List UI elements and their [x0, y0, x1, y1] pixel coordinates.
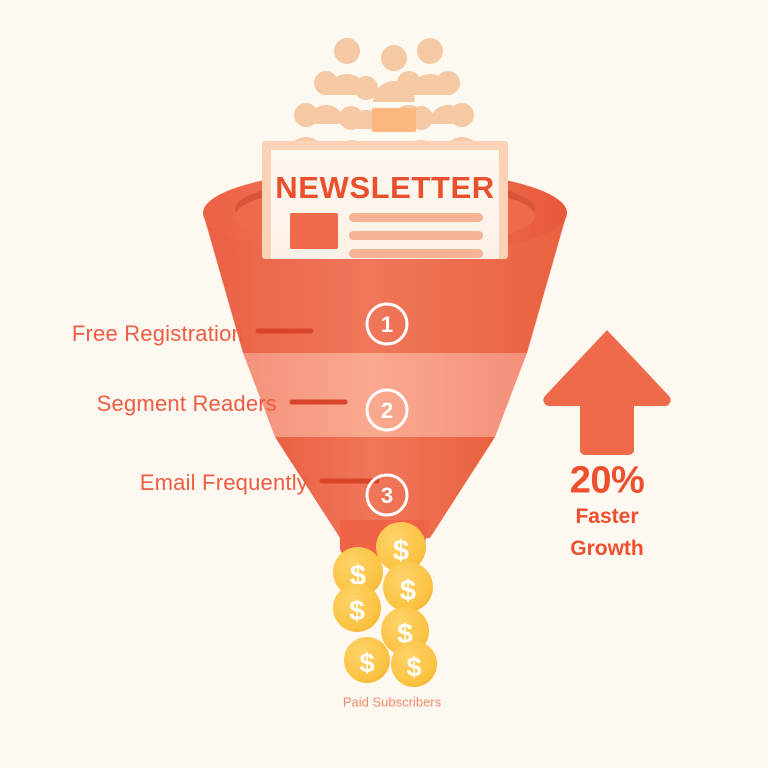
coin-symbol: $ [349, 595, 365, 626]
step-label-email-frequently: Email Frequently [140, 470, 308, 496]
step-badge-1-number: 1 [381, 312, 393, 337]
funnel-band-2 [243, 353, 527, 437]
funnel-infographic-illustration: 1 2 3 $ $ $ $ [0, 0, 768, 768]
step-label-segment-readers: Segment Readers [97, 391, 277, 417]
coin-symbol: $ [400, 575, 416, 607]
newsletter-title: NEWSLETTER [275, 170, 495, 206]
people-group-icon [287, 38, 481, 159]
step-badge-2-number: 2 [381, 398, 393, 423]
envelope-icon [372, 108, 416, 132]
coin-symbol: $ [359, 648, 374, 678]
infographic-canvas: 1 2 3 $ $ $ $ [0, 0, 768, 768]
growth-line-faster: Faster [575, 505, 638, 529]
growth-percent: 20% [570, 460, 645, 503]
step-badge-3-number: 3 [381, 483, 393, 508]
growth-line-growth: Growth [570, 537, 644, 561]
paid-subscribers-label: Paid Subscribers [343, 695, 441, 710]
coin-symbol: $ [406, 652, 421, 682]
step-label-free-registration: Free Registration [72, 321, 244, 347]
arrow-up-icon [543, 330, 670, 455]
image-block-icon [290, 213, 338, 249]
newsletter-text-lines [349, 213, 483, 258]
